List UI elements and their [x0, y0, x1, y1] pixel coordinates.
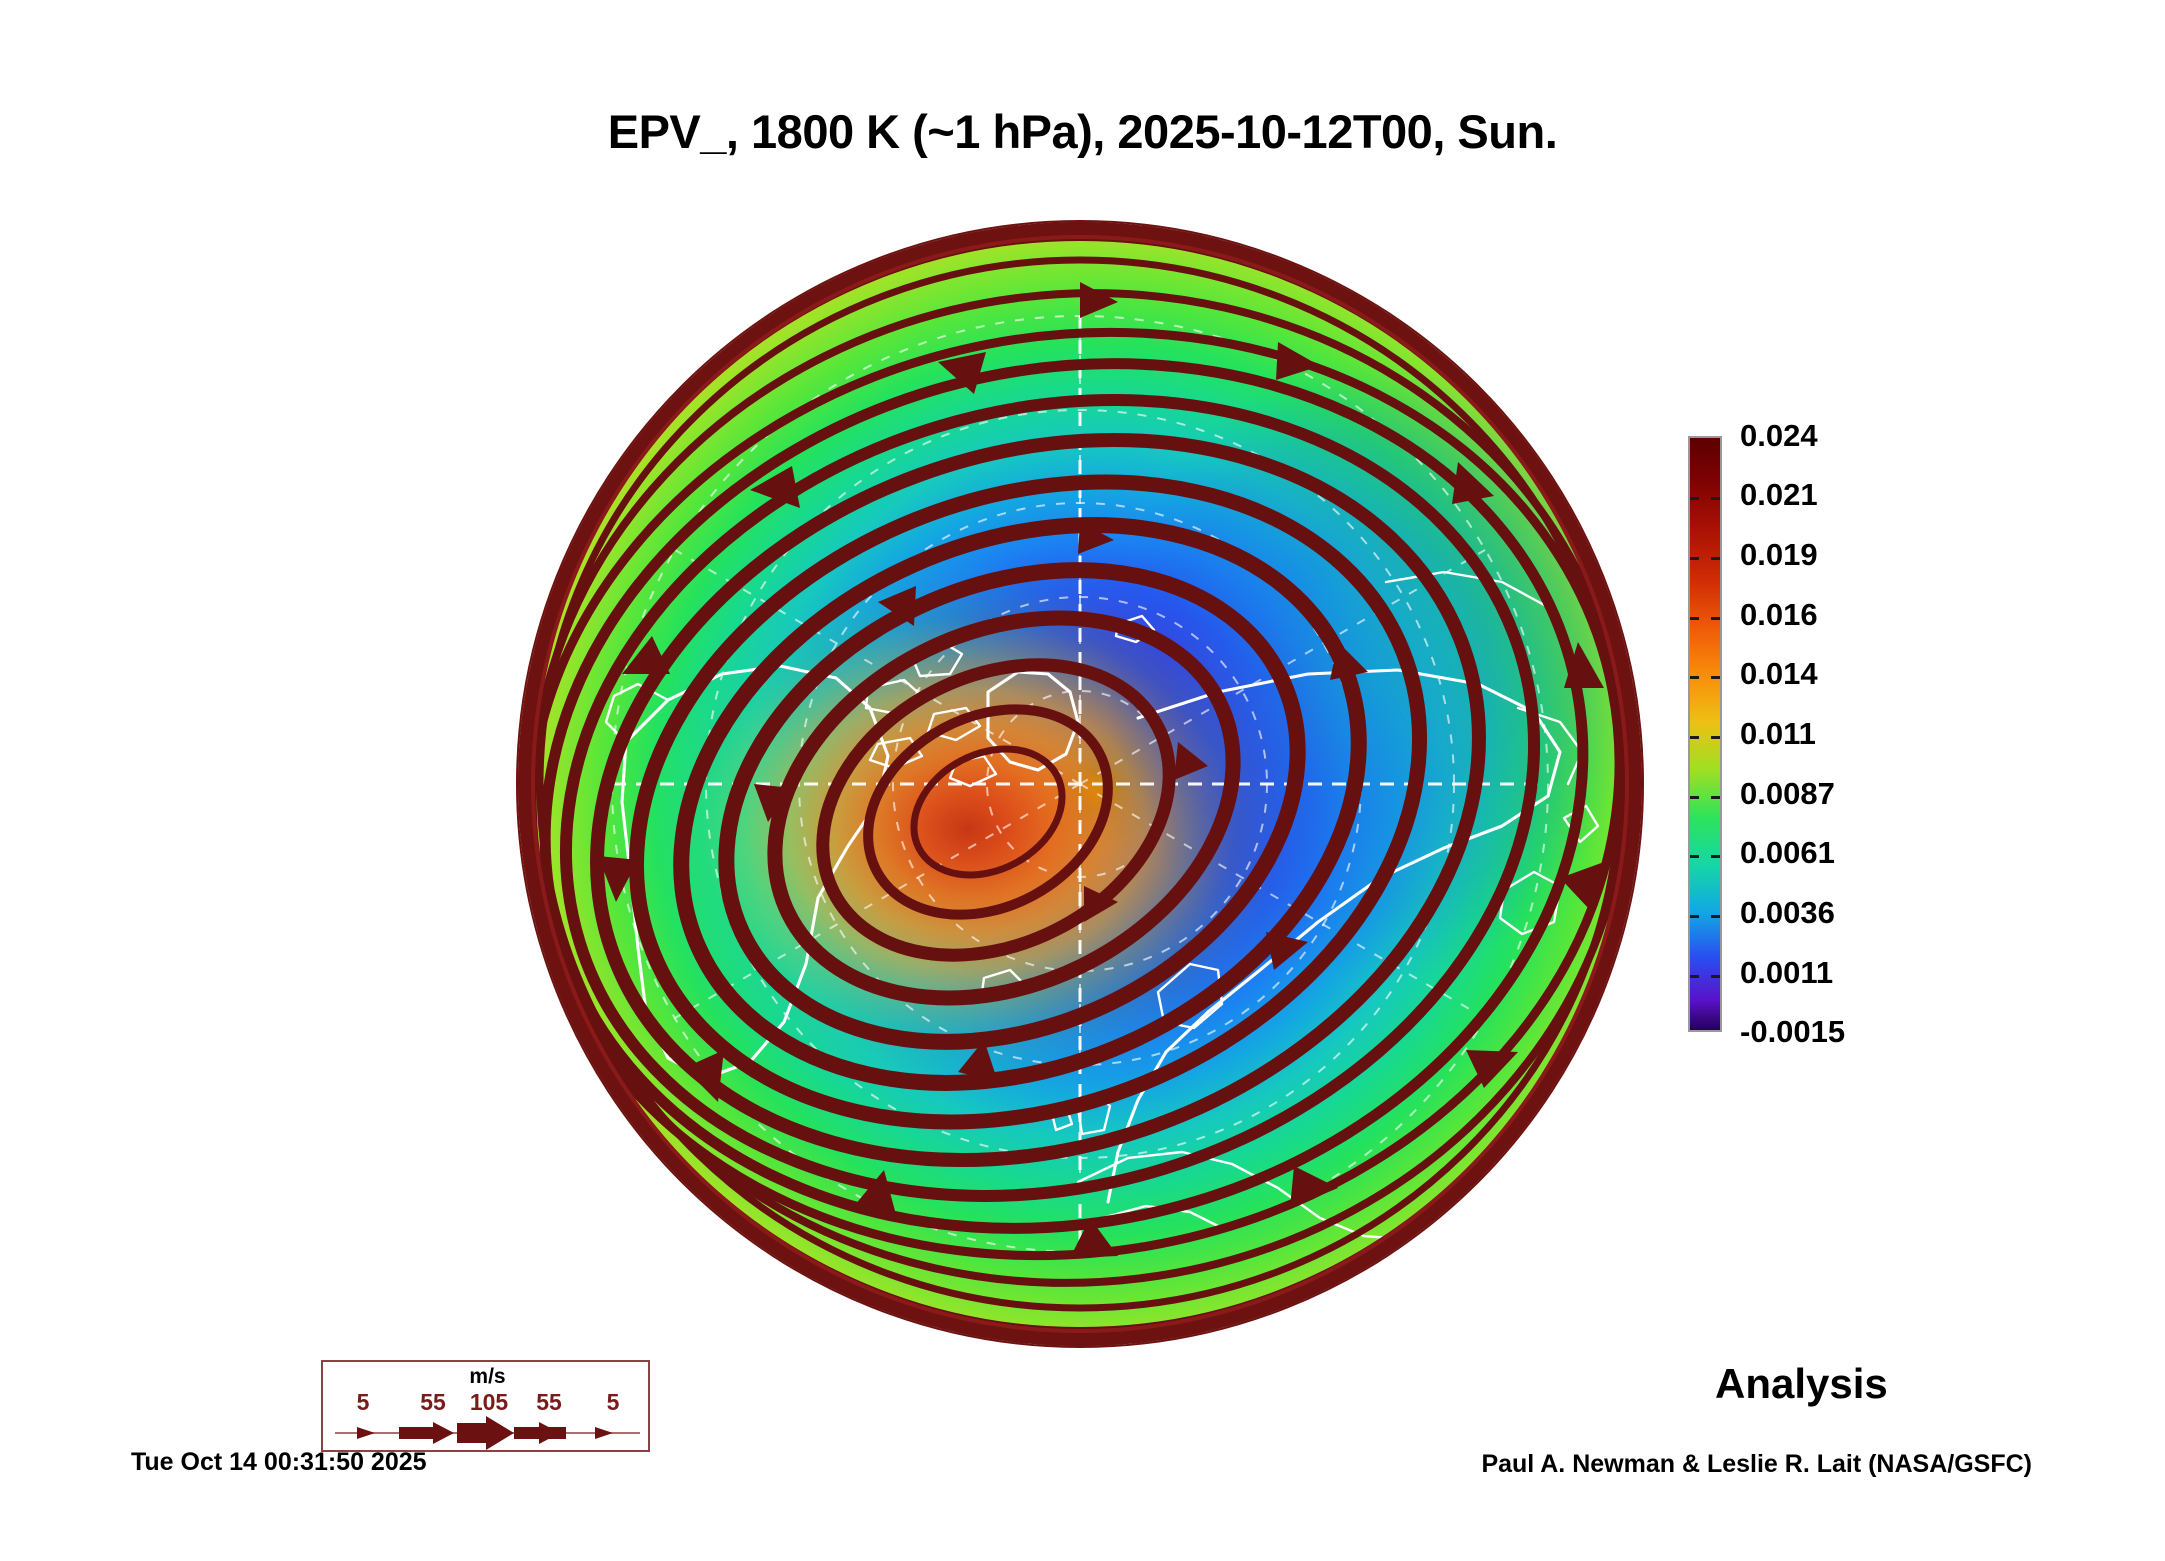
analysis-label: Analysis	[1715, 1360, 1888, 1408]
colorbar-label: 0.016	[1740, 597, 1818, 633]
wind-value: 5	[357, 1389, 370, 1416]
wind-arrow-scale	[323, 1414, 652, 1452]
wind-value: 105	[470, 1389, 508, 1416]
page-title: EPV_, 1800 K (~1 hPa), 2025-10-12T00, Su…	[0, 104, 2165, 159]
polar-map	[518, 222, 1642, 1346]
render-timestamp: Tue Oct 14 00:31:50 2025	[131, 1448, 427, 1477]
colorbar-gradient	[1688, 436, 1722, 1032]
map-border	[516, 220, 1644, 1348]
author-credit: Paul A. Newman & Leslie R. Lait (NASA/GS…	[1481, 1450, 2032, 1479]
wind-speed-legend: m/s 5 55 105 55 5	[321, 1360, 650, 1452]
colorbar-label: -0.0015	[1740, 1014, 1845, 1050]
wind-value: 55	[420, 1389, 446, 1416]
wind-value: 55	[536, 1389, 562, 1416]
colorbar-label: 0.0061	[1740, 835, 1835, 871]
colorbar	[1688, 436, 1722, 1032]
wind-unit-label: m/s	[323, 1365, 652, 1389]
wind-value: 5	[607, 1389, 620, 1416]
colorbar-label: 0.0087	[1740, 776, 1835, 812]
colorbar-label: 0.019	[1740, 537, 1818, 573]
colorbar-label: 0.0011	[1740, 955, 1833, 991]
colorbar-label: 0.014	[1740, 656, 1818, 692]
colorbar-labels: 0.024 0.021 0.019 0.016 0.014 0.011 0.00…	[1740, 436, 1960, 1032]
colorbar-label: 0.024	[1740, 418, 1818, 454]
colorbar-label: 0.021	[1740, 477, 1818, 513]
colorbar-label: 0.011	[1740, 716, 1816, 752]
colorbar-label: 0.0036	[1740, 895, 1835, 931]
